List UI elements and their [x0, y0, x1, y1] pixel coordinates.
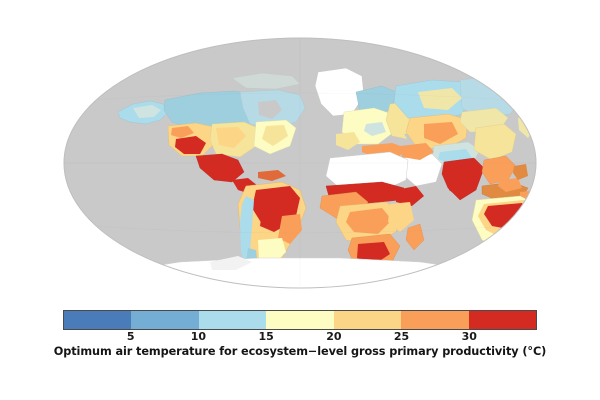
world-map[interactable]: [0, 0, 600, 300]
region-kamchatka: [516, 90, 534, 112]
colorbar-band-0[interactable]: [64, 311, 131, 329]
tick-label-15: 15: [258, 330, 273, 344]
colorbar-bands: [64, 311, 536, 329]
colorbar-band-2[interactable]: [199, 311, 266, 329]
legend: 51015202530 Optimum air temperature for …: [0, 300, 600, 400]
region-australia-southeast: [515, 226, 540, 246]
tick-label-25: 25: [394, 330, 409, 344]
tick-label-10: 10: [191, 330, 206, 344]
colorbar-band-5[interactable]: [401, 311, 468, 329]
colorbar-band-6[interactable]: [469, 311, 536, 329]
colorbar-band-3[interactable]: [266, 311, 333, 329]
map-panel: [0, 0, 600, 300]
region-new-zealand: [545, 218, 560, 244]
legend-caption: Optimum air temperature for ecosystem−le…: [0, 345, 600, 358]
colorbar-band-4[interactable]: [334, 311, 401, 329]
colorbar-band-1[interactable]: [131, 311, 198, 329]
region-antarctica: [80, 258, 536, 292]
tick-label-30: 30: [462, 330, 477, 344]
colorbar-tick-labels: 51015202530: [63, 330, 537, 346]
tick-label-20: 20: [326, 330, 341, 344]
tick-label-5: 5: [127, 330, 135, 344]
region-tasmania: [524, 246, 536, 256]
figure-root: 51015202530 Optimum air temperature for …: [0, 0, 600, 400]
colorbar[interactable]: [63, 310, 537, 330]
